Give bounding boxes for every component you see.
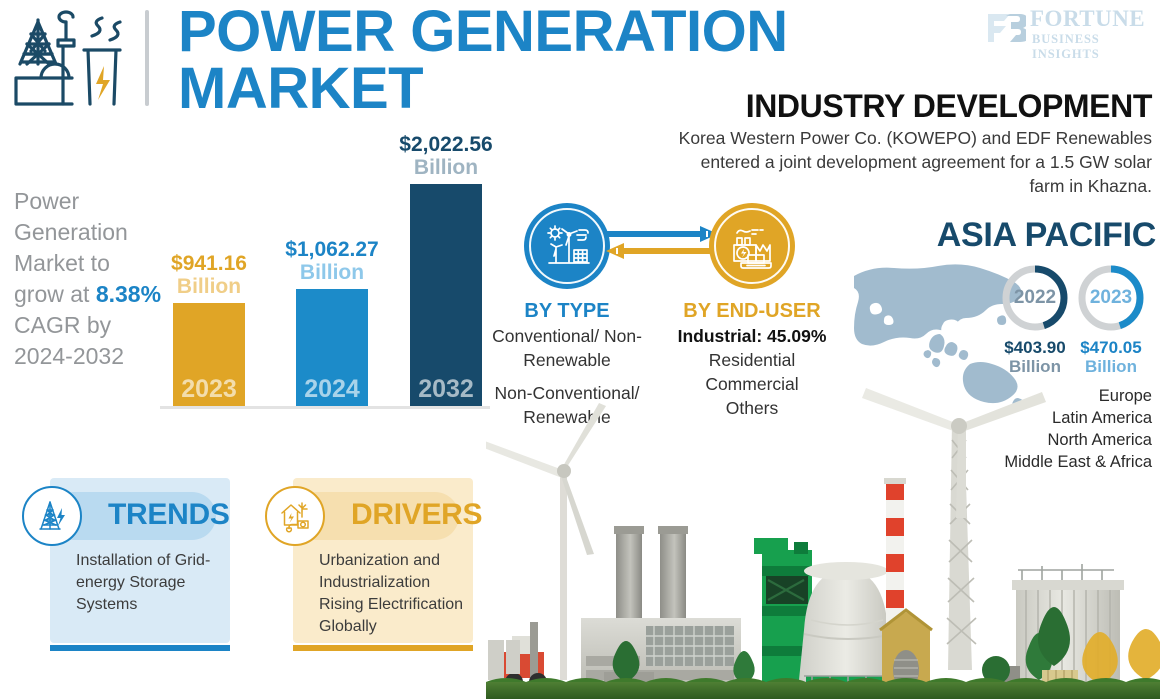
home-electrification-icon (278, 499, 312, 533)
bar-value-unit: Billion (144, 275, 274, 298)
industry-development-body: Korea Western Power Co. (KOWEPO) and EDF… (668, 126, 1152, 198)
donut-2022-year: 2022 (1000, 263, 1070, 333)
donut-2023-year: 2023 (1076, 263, 1146, 333)
circle-ring (714, 208, 790, 284)
bar-year-label-2024: 2024 (296, 375, 368, 404)
bar-value-unit: Billion (267, 261, 397, 284)
arrow-right-icon (604, 226, 718, 242)
segment-by-type-circle[interactable] (524, 203, 610, 289)
trends-icon-badge (22, 486, 82, 546)
bar-2024: 2024 (296, 289, 368, 406)
brand-subtitle: BUSINESS INSIGHTS (1032, 32, 1152, 62)
cagr-statement: Power Generation Market to grow at 8.38%… (14, 186, 164, 372)
donut-chart-2023: 2023 (1076, 263, 1146, 333)
donut-chart-2022: 2022 (1000, 263, 1070, 333)
brand-name: FORTUNE (1030, 6, 1145, 32)
power-plant-line-icon (8, 6, 128, 110)
market-size-bar-chart: 2023$941.16Billion2024$1,062.27Billion20… (160, 140, 490, 415)
segment-type-item: Conventional/ Non-Renewable (462, 324, 672, 372)
brand-logo: FORTUNE BUSINESS INSIGHTS (984, 6, 1152, 52)
bar-value-label-2023: $941.16Billion (144, 252, 274, 298)
circle-ring (529, 208, 605, 284)
bar-value-label-2024: $1,062.27Billion (267, 238, 397, 284)
drivers-title: DRIVERS (351, 498, 482, 532)
header-divider (145, 10, 149, 106)
bar-value-amount: $941.16 (171, 252, 247, 275)
trends-card: TRENDS Installation of Grid-energy Stora… (50, 478, 230, 643)
segment-exchange-arrows (604, 224, 720, 270)
trends-body: Installation of Grid-energy Storage Syst… (76, 550, 230, 616)
industry-development-heading: INDUSTRY DEVELOPMENT (700, 88, 1152, 125)
drivers-body: Urbanization and Industrialization Risin… (319, 550, 473, 638)
segment-end-user-lead: Industrial: 45.09% (647, 324, 857, 348)
bar-year-label-2023: 2023 (173, 375, 245, 404)
segment-by-end-user-title: BY END-USER (657, 300, 847, 323)
power-plant-model-scene (486, 370, 1160, 699)
fb-monogram-icon (984, 8, 1026, 48)
segment-end-user-item: Residential (647, 348, 857, 372)
trends-title: TRENDS (108, 498, 230, 532)
bar-2023: 2023 (173, 303, 245, 406)
segment-by-type-title: BY TYPE (472, 300, 662, 323)
ground-base (486, 678, 1160, 699)
drivers-underline (293, 645, 473, 651)
donut-2023-amount: $470.05 (1080, 338, 1141, 357)
bar-value-label-2032: $2,022.56Billion (381, 133, 511, 179)
cagr-line2: CAGR by 2024-2032 (14, 312, 124, 369)
region-heading: ASIA PACIFIC (872, 216, 1156, 255)
drivers-icon-badge (265, 486, 325, 546)
plant-building (581, 526, 741, 694)
infographic-root: POWER GENERATION MARKET FORTUNE BUSINESS… (0, 0, 1160, 699)
bar-value-amount: $1,062.27 (285, 238, 378, 261)
segment-by-end-user-circle[interactable] (709, 203, 795, 289)
arrow-left-icon (606, 243, 720, 259)
chart-baseline (160, 406, 490, 409)
transmission-tower-icon (35, 499, 69, 533)
drivers-card: DRIVERS Urbanization and Industrializati… (293, 478, 473, 643)
bar-value-amount: $2,022.56 (399, 133, 492, 156)
trends-underline (50, 645, 230, 651)
bar-value-unit: Billion (381, 156, 511, 179)
